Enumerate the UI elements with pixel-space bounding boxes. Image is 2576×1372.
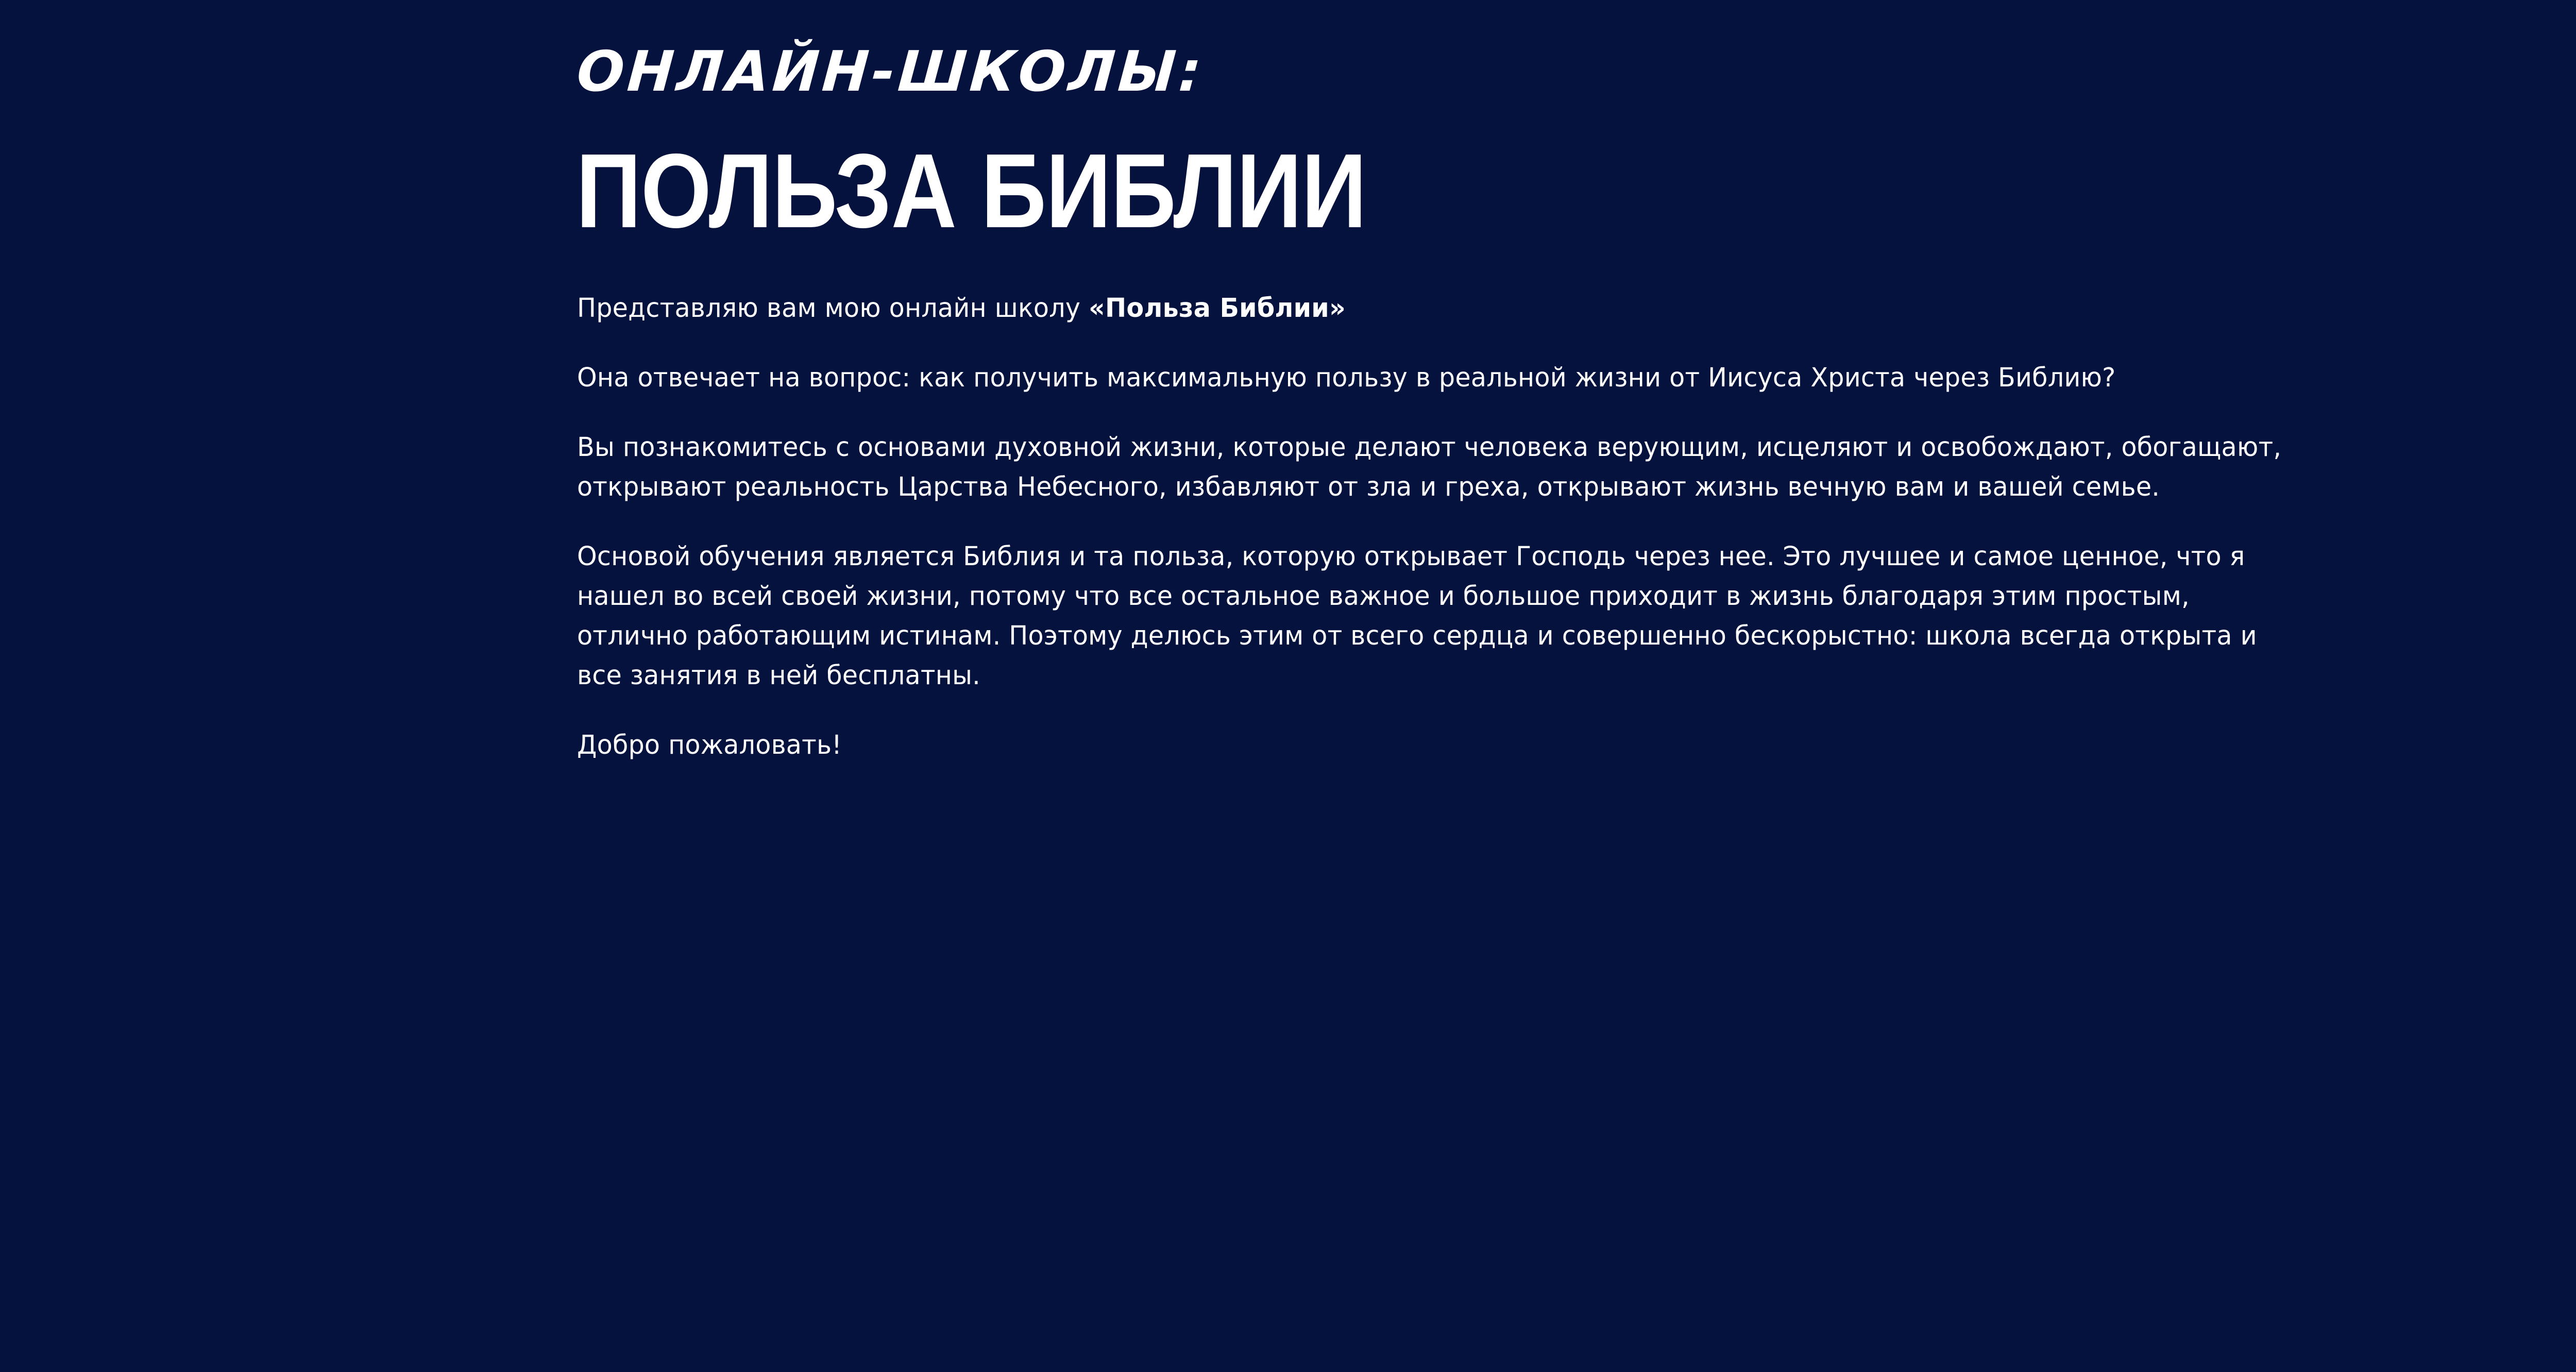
paragraph-intro: Представляю вам мою онлайн школу «Польза… [577, 289, 2292, 328]
paragraph-welcome: Добро пожаловать! [577, 725, 2292, 765]
paragraph-intro-lead: Представляю вам мою онлайн школу [577, 293, 1089, 324]
school-name-emphasis: «Польза Библии» [1089, 293, 1346, 324]
paragraph-basis: Основой обучения является Библия и та по… [577, 537, 2292, 696]
page-title: ПОЛЬЗА БИБЛИИ [576, 138, 1366, 244]
page-root: ОНЛАЙН-ШКОЛЫ: ПОЛЬЗА БИБЛИИ Представляю … [0, 0, 2576, 1372]
hero-eyebrow: ОНЛАЙН-ШКОЛЫ: [575, 44, 1206, 100]
paragraph-question: Она отвечает на вопрос: как получить мак… [577, 358, 2292, 398]
paragraph-foundations: Вы познакомитесь с основами духовной жиз… [577, 428, 2292, 507]
body-copy: Представляю вам мою онлайн школу «Польза… [577, 289, 2354, 765]
